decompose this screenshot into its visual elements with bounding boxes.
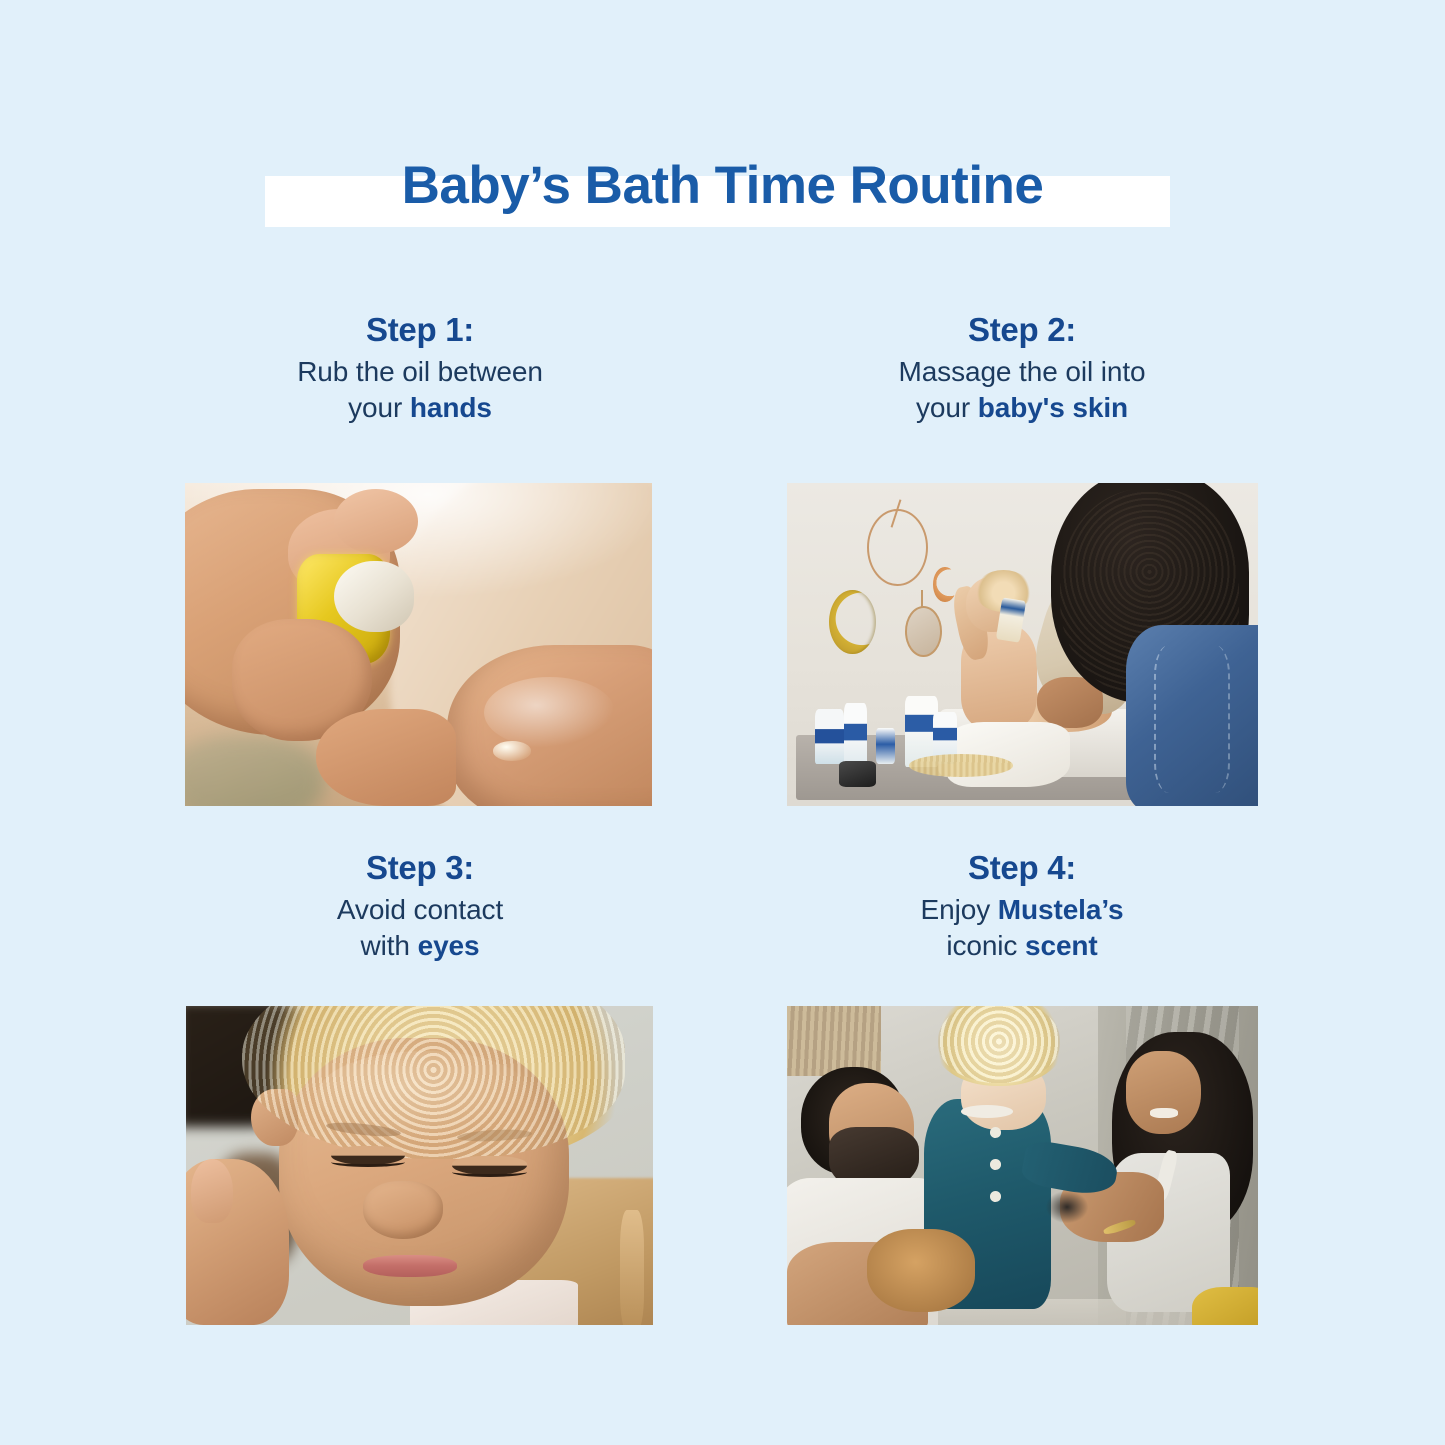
step-1-photo <box>185 483 652 806</box>
photo-scene-changing-table <box>787 483 1258 806</box>
step-3-caption: Step 3: Avoid contact with eyes <box>185 848 655 964</box>
step-4-line-2-emphasis: scent <box>1025 930 1098 961</box>
step-1-line-1: Rub the oil between <box>297 356 543 387</box>
photo-scene-family-on-bed <box>787 1006 1258 1325</box>
step-1-caption: Step 1: Rub the oil between your hands <box>185 310 655 426</box>
step-3-photo <box>186 1006 653 1325</box>
step-2-line-2-prefix: your <box>916 392 978 423</box>
step-3-line-2-prefix: with <box>361 930 418 961</box>
step-4-line-1-emphasis: Mustela’s <box>998 894 1124 925</box>
step-2-caption: Step 2: Massage the oil into your baby's… <box>787 310 1257 426</box>
step-3-line-2-emphasis: eyes <box>418 930 480 961</box>
step-1-description: Rub the oil between your hands <box>185 354 655 426</box>
step-1-heading: Step 1: <box>185 310 655 350</box>
step-3-line-1: Avoid contact <box>337 894 503 925</box>
step-2-description: Massage the oil into your baby's skin <box>787 354 1257 426</box>
step-2-line-1: Massage the oil into <box>898 356 1145 387</box>
step-1-line-2-emphasis: hands <box>410 392 492 423</box>
step-2-heading: Step 2: <box>787 310 1257 350</box>
step-4-caption: Step 4: Enjoy Mustela’s iconic scent <box>787 848 1257 964</box>
step-4-heading: Step 4: <box>787 848 1257 888</box>
step-4-description: Enjoy Mustela’s iconic scent <box>787 892 1257 964</box>
step-3-heading: Step 3: <box>185 848 655 888</box>
step-4-photo <box>787 1006 1258 1325</box>
step-2-line-2-emphasis: baby's skin <box>978 392 1128 423</box>
step-4-line-1-prefix: Enjoy <box>921 894 998 925</box>
page-title: Baby’s Bath Time Routine <box>0 155 1445 218</box>
photo-scene-oil-in-hands <box>185 483 652 806</box>
step-1-line-2-prefix: your <box>348 392 410 423</box>
step-2-photo <box>787 483 1258 806</box>
photo-scene-toddler-face <box>186 1006 653 1325</box>
step-4-line-2-prefix: iconic <box>946 930 1025 961</box>
step-3-description: Avoid contact with eyes <box>185 892 655 964</box>
